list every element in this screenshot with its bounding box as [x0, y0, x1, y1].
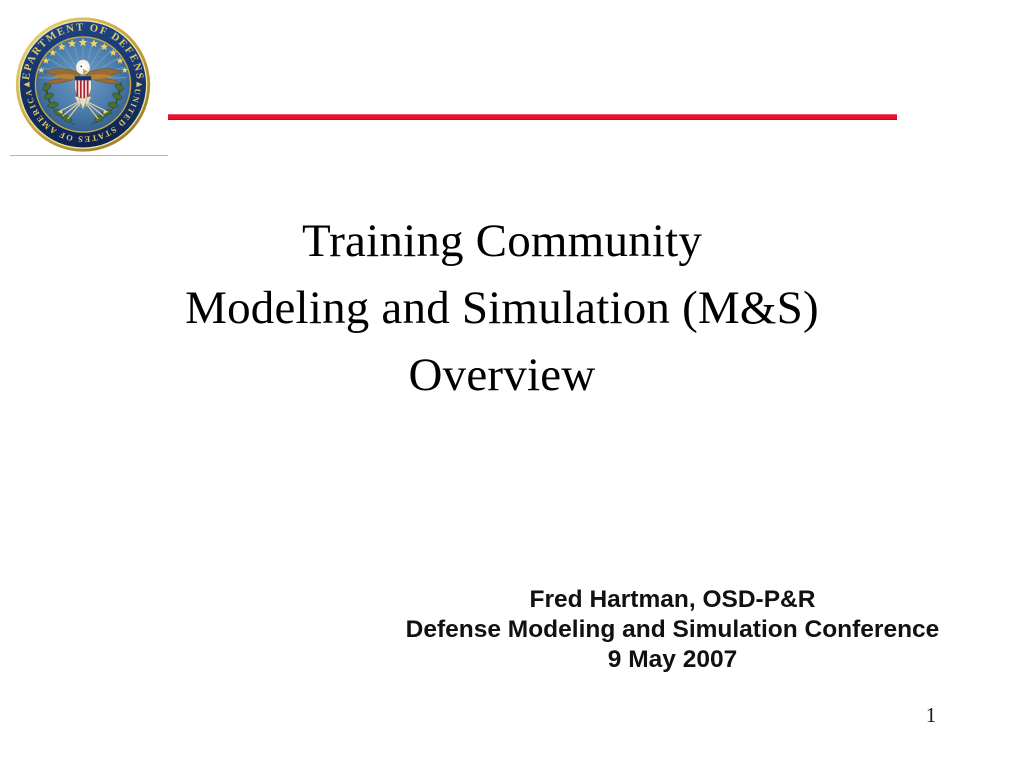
title-line-2: Modeling and Simulation (M&S): [72, 275, 932, 342]
header-accent-rule: [168, 114, 897, 120]
title-line-1: Training Community: [72, 208, 932, 275]
dod-seal-icon: DEPARTMENT OF DEFENSE UNITED STATES OF A…: [9, 16, 157, 153]
presentation-slide: DEPARTMENT OF DEFENSE UNITED STATES OF A…: [0, 0, 1024, 768]
presenter-name: Fred Hartman, OSD-P&R: [355, 585, 990, 615]
page-title: Training Community Modeling and Simulati…: [72, 208, 932, 409]
title-line-3: Overview: [72, 342, 932, 409]
presentation-date: 9 May 2007: [355, 645, 990, 675]
seal-block: DEPARTMENT OF DEFENSE UNITED STATES OF A…: [9, 16, 161, 158]
presenter-block: Fred Hartman, OSD-P&R Defense Modeling a…: [355, 585, 990, 675]
conference-name: Defense Modeling and Simulation Conferen…: [355, 615, 990, 645]
page-number: 1: [916, 703, 946, 728]
seal-divider-rule: [10, 155, 168, 156]
